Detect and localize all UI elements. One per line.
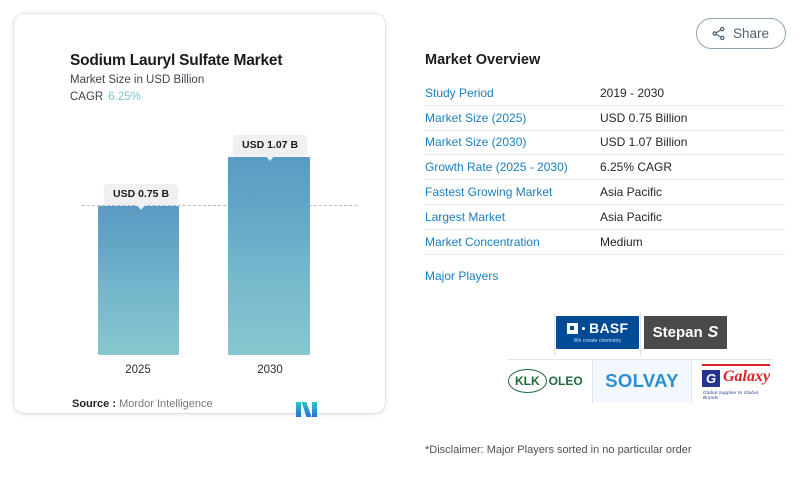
stepan-mark-icon: S bbox=[708, 325, 719, 341]
logo-basf[interactable]: BASF We create chemistry bbox=[556, 316, 639, 349]
market-overview-table: Study Period 2019 - 2030 Market Size (20… bbox=[425, 81, 785, 288]
basf-dot-icon bbox=[582, 327, 586, 331]
klk-name: KLK bbox=[515, 374, 540, 388]
major-players-row: Major Players bbox=[425, 264, 785, 288]
row-value: Asia Pacific bbox=[600, 185, 662, 199]
table-row: Market Concentration Medium bbox=[425, 230, 785, 255]
market-overview-title: Market Overview bbox=[425, 52, 540, 68]
galaxy-mark-icon: G bbox=[702, 370, 720, 387]
row-key: Growth Rate (2025 - 2030) bbox=[425, 160, 600, 174]
logo-galaxy[interactable]: G Galaxy Global Supplier to Global Brand… bbox=[694, 364, 773, 399]
klk-oval-badge: KLK bbox=[508, 369, 547, 393]
row-key: Fastest Growing Market bbox=[425, 185, 600, 199]
row-value: Asia Pacific bbox=[600, 210, 662, 224]
table-row: Growth Rate (2025 - 2030) 6.25% CAGR bbox=[425, 155, 785, 180]
mordor-intelligence-logo-icon bbox=[295, 401, 325, 418]
solvay-name: SOLVAY bbox=[605, 372, 678, 391]
row-value: 6.25% CAGR bbox=[600, 160, 672, 174]
row-value: Medium bbox=[600, 235, 643, 249]
bar-value-badge-2025: USD 0.75 B bbox=[104, 184, 178, 205]
table-row: Fastest Growing Market Asia Pacific bbox=[425, 180, 785, 205]
x-axis-tick-2025: 2025 bbox=[78, 364, 198, 376]
galaxy-tagline: Global Supplier to Global Brands bbox=[703, 390, 773, 400]
logo-divider-vertical-4 bbox=[640, 312, 641, 356]
row-value: 2019 - 2030 bbox=[600, 86, 664, 100]
oleo-name: OLEO bbox=[549, 375, 583, 387]
logo-solvay[interactable]: SOLVAY bbox=[593, 360, 691, 402]
row-key: Market Concentration bbox=[425, 235, 600, 249]
bar-2030[interactable] bbox=[228, 157, 310, 355]
row-key: Study Period bbox=[425, 86, 600, 100]
basf-name: BASF bbox=[589, 321, 628, 335]
table-row: Largest Market Asia Pacific bbox=[425, 205, 785, 230]
table-row: Market Size (2030) USD 1.07 Billion bbox=[425, 131, 785, 156]
source-line: Source : Mordor Intelligence bbox=[72, 398, 213, 410]
logo-divider-vertical-3 bbox=[691, 360, 692, 404]
source-label: Source : bbox=[72, 398, 116, 410]
galaxy-name: Galaxy bbox=[723, 369, 770, 385]
disclaimer-text: *Disclaimer: Major Players sorted in no … bbox=[425, 444, 692, 456]
logo-klk-oleo[interactable]: KLK OLEO bbox=[508, 366, 590, 396]
major-players-label: Major Players bbox=[425, 269, 600, 283]
galaxy-red-bar bbox=[702, 364, 770, 366]
basf-tagline: We create chemistry bbox=[574, 338, 621, 344]
row-value: USD 1.07 Billion bbox=[600, 135, 687, 149]
bar-chart-plot: USD 0.75 B USD 1.07 B 2025 2030 bbox=[14, 14, 385, 413]
basf-square-icon bbox=[567, 323, 578, 334]
row-value: USD 0.75 Billion bbox=[600, 111, 687, 125]
basf-wordmark: BASF bbox=[567, 321, 629, 335]
source-name: Mordor Intelligence bbox=[119, 398, 213, 410]
logo-stepan[interactable]: Stepan S bbox=[644, 316, 727, 349]
row-key: Largest Market bbox=[425, 210, 600, 224]
bar-value-badge-2030: USD 1.07 B bbox=[233, 135, 307, 156]
share-button[interactable]: Share bbox=[696, 18, 786, 49]
chart-card: Sodium Lauryl Sulfate Market Market Size… bbox=[14, 14, 385, 413]
row-key: Market Size (2025) bbox=[425, 111, 600, 125]
x-axis-tick-2030: 2030 bbox=[210, 364, 330, 376]
share-button-label: Share bbox=[733, 26, 769, 41]
row-key: Market Size (2030) bbox=[425, 135, 600, 149]
logo-divider-vertical-1 bbox=[554, 312, 555, 356]
bar-2025[interactable] bbox=[98, 206, 179, 355]
stepan-name: Stepan bbox=[653, 325, 703, 340]
major-players-logos: BASF We create chemistry Stepan S KLK OL… bbox=[508, 312, 773, 404]
table-row: Study Period 2019 - 2030 bbox=[425, 81, 785, 106]
share-nodes-icon bbox=[711, 26, 726, 41]
table-row: Market Size (2025) USD 0.75 Billion bbox=[425, 106, 785, 131]
